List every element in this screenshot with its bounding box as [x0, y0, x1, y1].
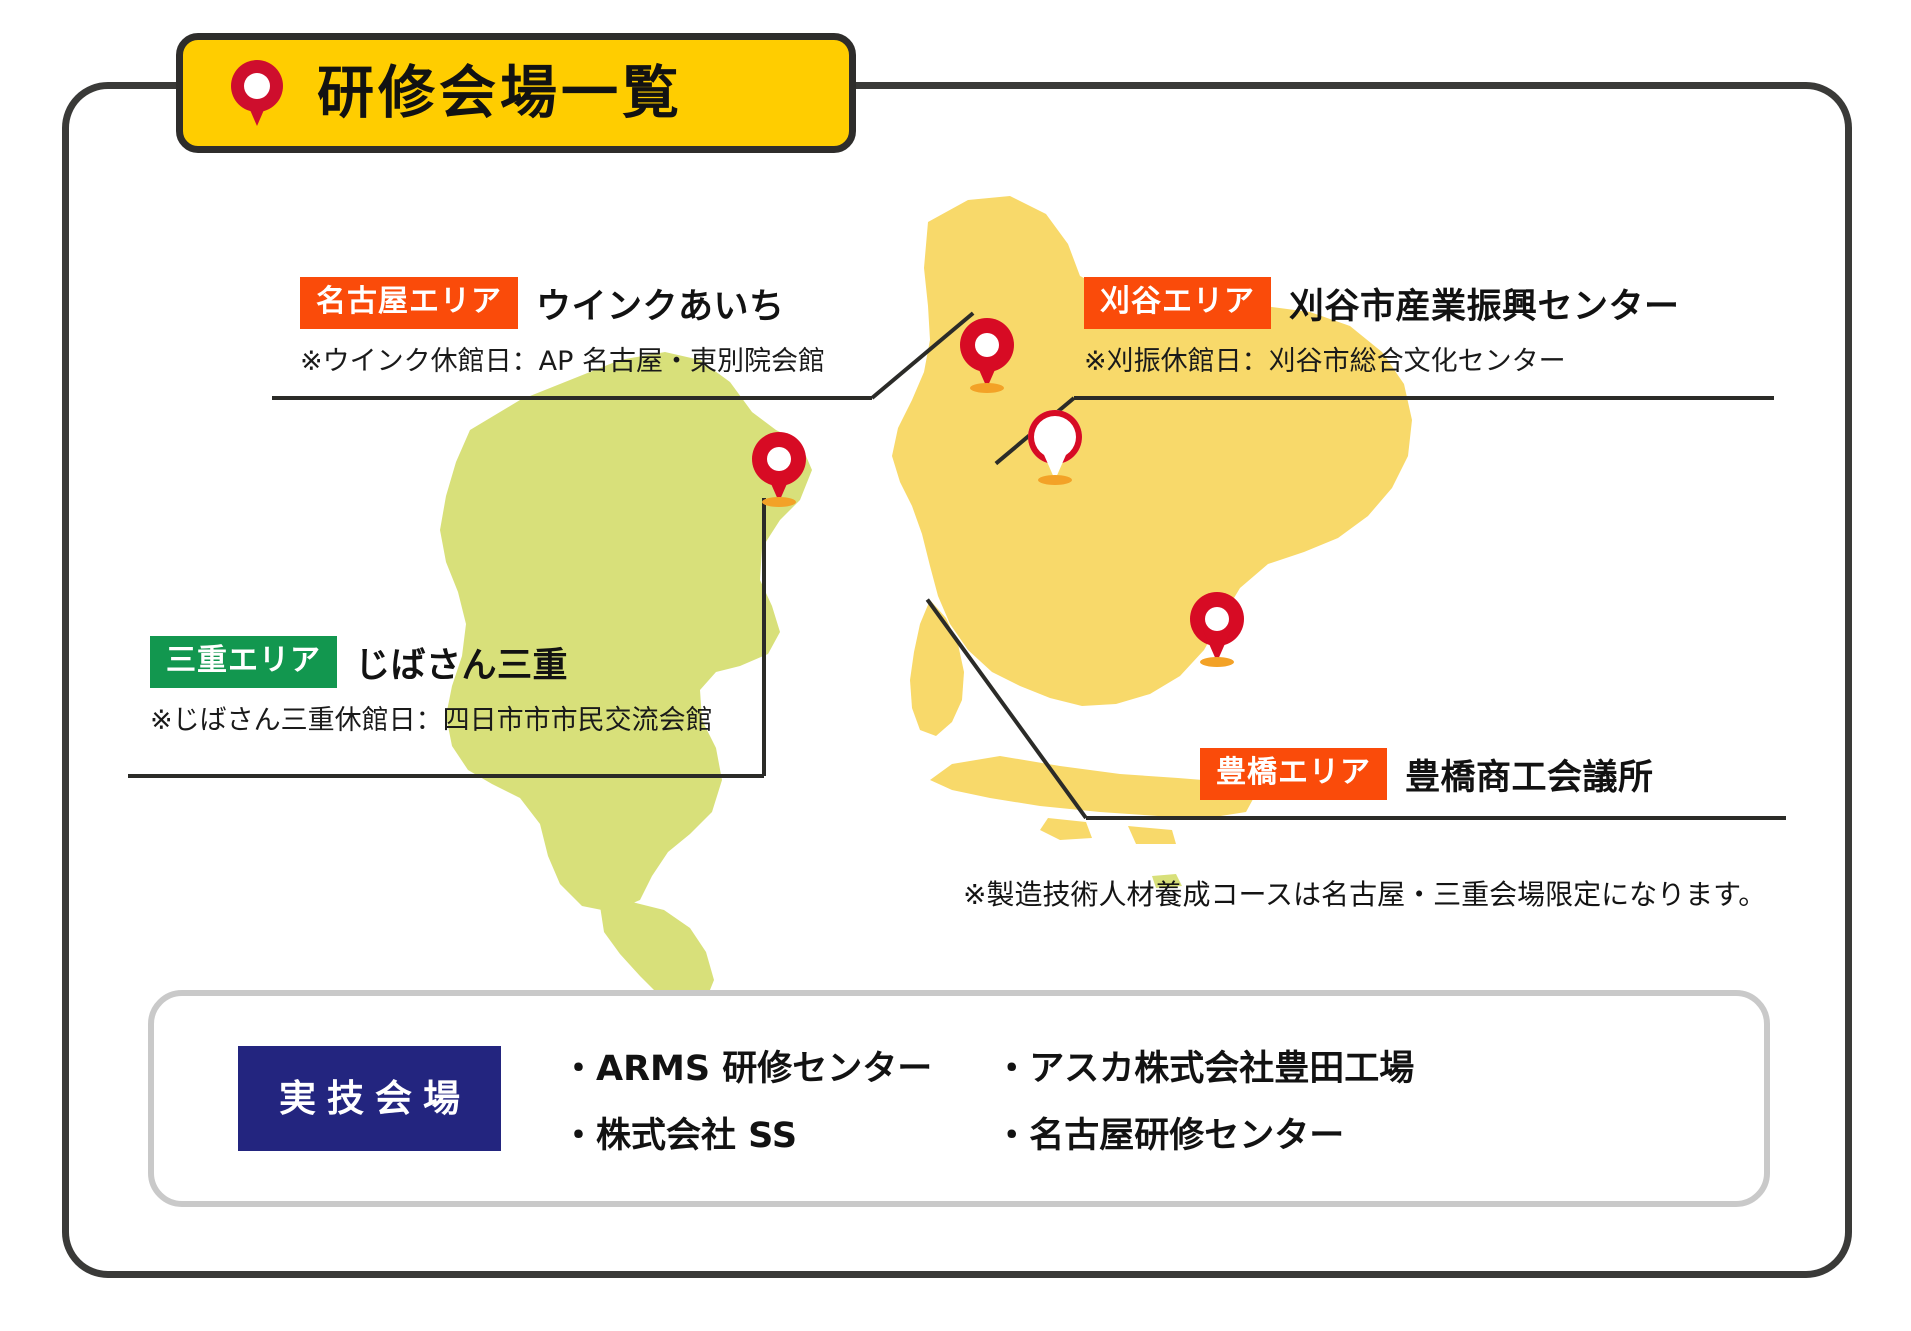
- region-island-a: [1040, 818, 1092, 840]
- pin-body: [960, 318, 1014, 388]
- area-badge-nagoya[interactable]: 名古屋エリア: [300, 277, 518, 329]
- pin-body: [1190, 592, 1244, 662]
- leader-line-nagoya: [272, 396, 872, 400]
- pin-shadow: [1038, 475, 1072, 485]
- pin-inner-dot: [767, 447, 791, 471]
- area-badge-mie[interactable]: 三重エリア: [150, 636, 337, 688]
- practice-venue-column-1: ・ARMS 研修センター ・株式会社 SS: [561, 1040, 932, 1158]
- map-pin-mie[interactable]: [752, 432, 806, 502]
- map-pin-toyohashi[interactable]: [1190, 592, 1244, 662]
- list-item: ・アスカ株式会社豊田工場: [994, 1040, 1414, 1091]
- area-badge-toyohashi[interactable]: 豊橋エリア: [1200, 748, 1387, 800]
- leader-line-mie: [128, 774, 764, 778]
- pin-dot: [244, 73, 270, 99]
- pin-tip: [244, 96, 270, 126]
- practice-badge: 実技会場: [238, 1046, 501, 1151]
- venue-name-kariya: 刈谷市産業振興センター: [1289, 278, 1680, 329]
- map-pin-wink-nagoya[interactable]: [960, 318, 1014, 388]
- page-title: 研修会場一覧: [317, 65, 683, 122]
- area-badge-kariya[interactable]: 刈谷エリア: [1084, 277, 1271, 329]
- pin-shadow: [970, 383, 1004, 393]
- practice-venue-column-2: ・アスカ株式会社豊田工場 ・名古屋研修センター: [994, 1040, 1414, 1158]
- practice-venue-panel: 実技会場 ・ARMS 研修センター ・株式会社 SS ・アスカ株式会社豊田工場 …: [148, 990, 1770, 1207]
- pin-inner-dot: [975, 333, 999, 357]
- disclaimer-text: ※製造技術人材養成コースは名古屋・三重会場限定になります。: [963, 873, 1766, 913]
- callout-header-row: 三重エリア じばさん三重: [150, 636, 713, 688]
- leader-line-kariya: [1074, 396, 1774, 400]
- region-island-b: [1128, 826, 1176, 844]
- venue-name-nagoya: ウインクあいち: [536, 278, 785, 329]
- callout-header-row: 刈谷エリア 刈谷市産業振興センター: [1084, 277, 1680, 329]
- area-note-mie: ※じばさん三重休館日：四日市市市民交流会館: [150, 698, 713, 737]
- callout-header-row: 名古屋エリア ウインクあいち: [300, 277, 825, 329]
- callout-header-row: 豊橋エリア 豊橋商工会議所: [1200, 748, 1654, 800]
- area-note-kariya: ※刈振休館日：刈谷市総合文化センター: [1084, 339, 1680, 378]
- pin-body: [752, 432, 806, 502]
- list-item: ・株式会社 SS: [561, 1107, 932, 1158]
- leader-line-toyohashi: [1086, 816, 1786, 820]
- region-aichi: [892, 196, 1412, 706]
- pin-inner-dot: [1043, 425, 1067, 449]
- list-item: ・名古屋研修センター: [994, 1107, 1414, 1158]
- title-banner: 研修会場一覧: [176, 33, 856, 153]
- pin-body: [1028, 410, 1082, 480]
- leader-line-mie-vert: [762, 498, 766, 776]
- list-item: ・ARMS 研修センター: [561, 1040, 932, 1091]
- area-note-nagoya: ※ウインク休館日：AP 名古屋・東別院会館: [300, 339, 825, 378]
- callout-mie: 三重エリア じばさん三重 ※じばさん三重休館日：四日市市市民交流会館: [150, 636, 713, 737]
- map-pin-kariya[interactable]: [1028, 410, 1082, 480]
- practice-venue-columns: ・ARMS 研修センター ・株式会社 SS ・アスカ株式会社豊田工場 ・名古屋研…: [561, 1040, 1414, 1158]
- venue-name-toyohashi: 豊橋商工会議所: [1405, 749, 1654, 800]
- pin-shadow: [762, 497, 796, 507]
- callout-nagoya: 名古屋エリア ウインクあいち ※ウインク休館日：AP 名古屋・東別院会館: [300, 277, 825, 378]
- venue-name-mie: じばさん三重: [355, 637, 568, 688]
- pin-shadow: [1200, 657, 1234, 667]
- callout-toyohashi: 豊橋エリア 豊橋商工会議所: [1200, 748, 1654, 800]
- pin-inner-dot: [1205, 607, 1229, 631]
- map-pin-icon: [231, 60, 283, 126]
- callout-kariya: 刈谷エリア 刈谷市産業振興センター ※刈振休館日：刈谷市総合文化センター: [1084, 277, 1680, 378]
